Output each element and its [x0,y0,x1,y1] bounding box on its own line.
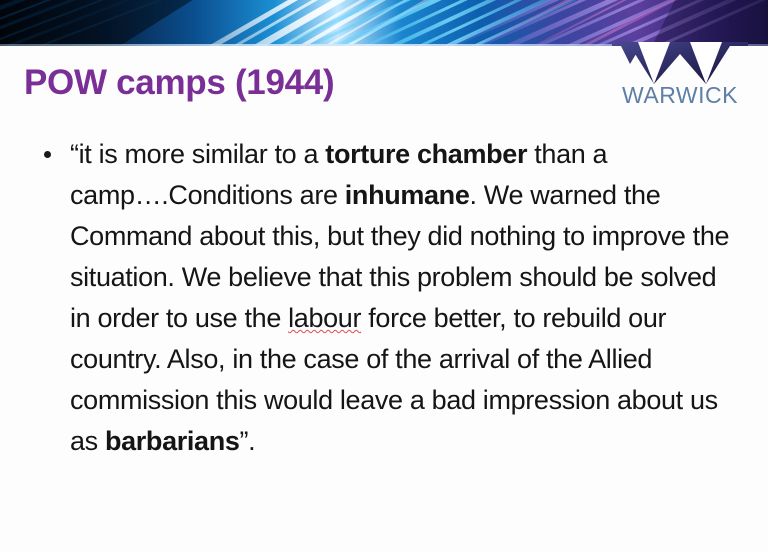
quote-text-run: “it is more similar to a [70,139,325,169]
warwick-w-icon [612,42,748,84]
list-item: “it is more similar to a torture chamber… [38,134,738,462]
warwick-logo: WARWICK [612,42,748,114]
quote-text-run: ”. [240,426,256,456]
misspelled-word: labour [288,303,361,333]
quote-paragraph: “it is more similar to a torture chamber… [70,134,738,462]
emphasis-text: inhumane [345,180,470,210]
emphasis-text: barbarians [105,426,240,456]
page-title: POW camps (1944) [24,63,334,103]
banner-image [0,0,768,46]
warwick-wordmark: WARWICK [612,82,748,109]
slide: WARWICK POW camps (1944) “it is more sim… [0,0,768,552]
abstract-light-streaks-graphic [0,0,768,46]
bullet-point-icon [44,151,51,158]
emphasis-text: torture chamber [325,139,527,169]
content-body: “it is more similar to a torture chamber… [38,134,738,462]
